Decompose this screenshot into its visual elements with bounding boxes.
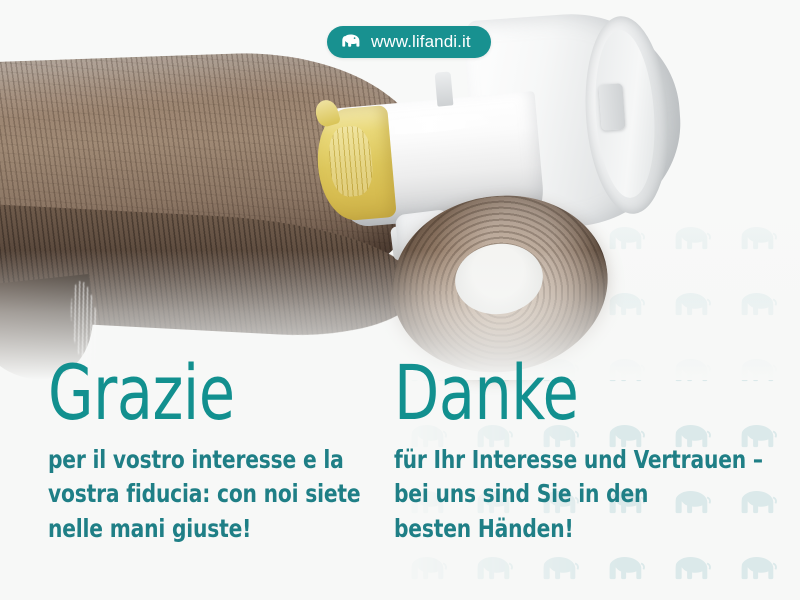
body-italian-line-2: vostra fiducia: con noi siete — [48, 477, 345, 512]
column-german: Danke für Ihr Interesse und Vertrauen – … — [394, 358, 774, 546]
body-italian: per il vostro interesse e la vostra fidu… — [48, 443, 345, 547]
body-german-line-3: besten Händen! — [394, 512, 736, 547]
headline-german: Danke — [394, 358, 721, 429]
poster-canvas: www.lifandi.it Grazie per il vostro inte… — [0, 0, 800, 600]
body-italian-line-1: per il vostro interesse e la — [48, 443, 345, 478]
copy-block: Grazie per il vostro interesse e la vost… — [0, 0, 800, 600]
column-italian: Grazie per il vostro interesse e la vost… — [48, 358, 378, 546]
body-italian-line-3: nelle mani giuste! — [48, 512, 345, 547]
headline-italian: Grazie — [48, 358, 332, 429]
body-german: für Ihr Interesse und Vertrauen – bei un… — [394, 443, 736, 547]
body-german-line-2: bei uns sind Sie in den — [394, 477, 736, 512]
body-german-line-1: für Ihr Interesse und Vertrauen – — [394, 443, 736, 478]
